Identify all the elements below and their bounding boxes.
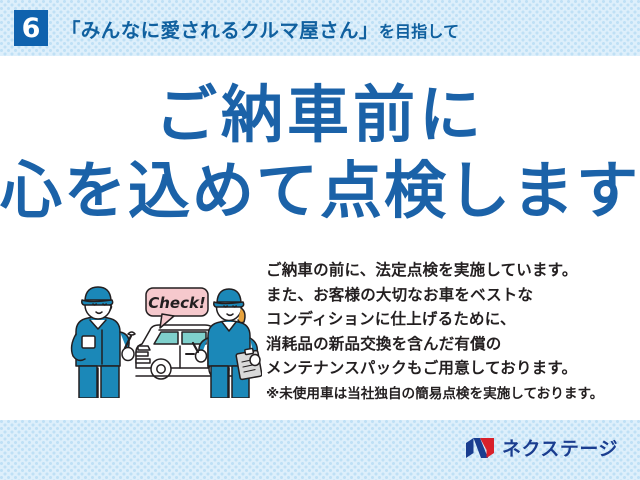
poster-canvas: 6 「みんなに愛されるクルマ屋さん」 を目指して ご納車前に 心を込めて点検しま…: [0, 0, 640, 480]
body-line-4: 消耗品の新品交換を含んだ有償の: [266, 332, 626, 357]
nextage-n-mark-icon: [465, 437, 495, 459]
step-number-badge: 6: [14, 10, 48, 46]
mechanics-illustration-svg: Check!: [62, 272, 262, 398]
body-line-5: メンテナンスパックもご用意しております。: [266, 356, 626, 381]
body-line-1: ご納車の前に、法定点検を実施しています。: [266, 258, 626, 283]
body-line-2: また、お客様の大切なお車をベストな: [266, 283, 626, 308]
header-title-tail: を目指して: [379, 18, 460, 42]
check-bubble-label: Check!: [148, 294, 206, 312]
header-title: 「みんなに愛されるクルマ屋さん」 を目指して: [61, 14, 459, 43]
headline-line-2: 心を込めて点検します: [0, 160, 640, 222]
body-line-3: コンディションに仕上げるために、: [266, 307, 626, 332]
body-copy: ご納車の前に、法定点検を実施しています。 また、お客様の大切なお車をベストな コ…: [266, 258, 626, 407]
header-title-quoted: 「みんなに愛されるクルマ屋さん」: [61, 14, 379, 43]
header: 6 「みんなに愛されるクルマ屋さん」 を目指して: [0, 0, 640, 56]
headline: ご納車前に 心を込めて点検します: [0, 84, 640, 222]
brand-name: ネクステージ: [502, 434, 618, 461]
body-note: ※未使用車は当社独自の簡易点検を実施しております。: [266, 382, 626, 407]
mechanic-left: [72, 287, 135, 398]
brand-logo: ネクステージ: [465, 434, 618, 461]
mechanics-illustration: Check!: [62, 272, 262, 398]
headline-line-1: ご納車前に: [0, 84, 640, 146]
